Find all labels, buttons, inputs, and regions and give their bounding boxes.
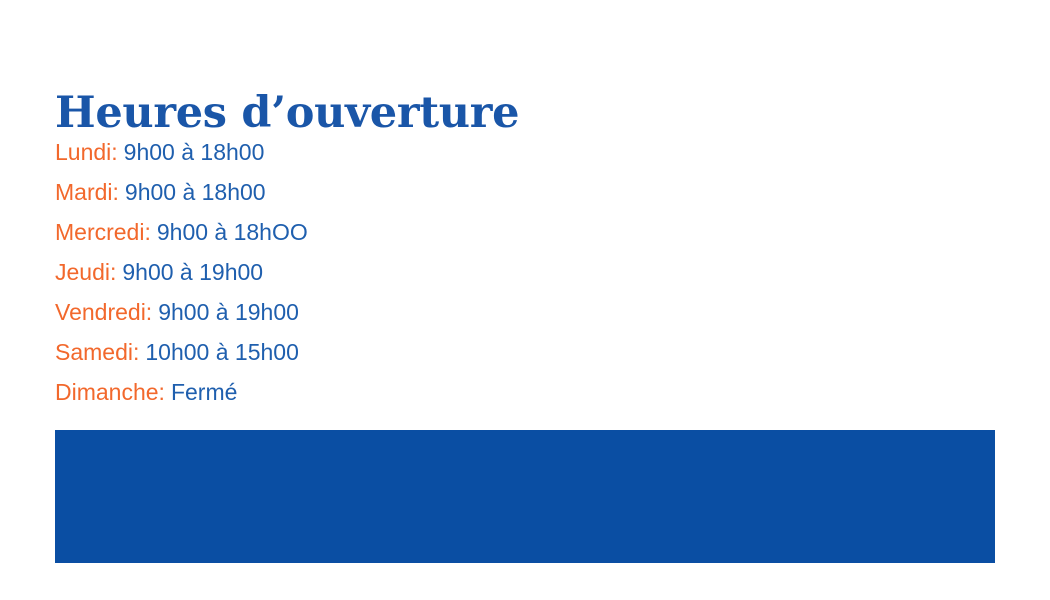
list-item: Mardi:9h00 à 18h00 (55, 172, 575, 212)
opening-hours-list: Lundi:9h00 à 18h00 Mardi:9h00 à 18h00 Me… (55, 132, 575, 412)
day-label: Jeudi: (55, 259, 116, 285)
day-label: Lundi: (55, 139, 118, 165)
day-hours: 9h00 à 18h00 (125, 179, 266, 205)
list-item: Jeudi:9h00 à 19h00 (55, 252, 575, 292)
day-hours: 9h00 à 19h00 (122, 259, 263, 285)
day-label: Mercredi: (55, 219, 151, 245)
list-item: Mercredi:9h00 à 18hOO (55, 212, 575, 252)
list-item: Samedi:10h00 à 15h00 (55, 332, 575, 372)
day-hours: 9h00 à 18hOO (157, 219, 308, 245)
slide-canvas: Heures d’ouverture Lundi:9h00 à 18h00 Ma… (0, 0, 1050, 600)
day-label: Dimanche: (55, 379, 165, 405)
day-label: Vendredi: (55, 299, 152, 325)
day-label: Samedi: (55, 339, 139, 365)
blue-banner-block (55, 430, 995, 563)
day-hours: 10h00 à 15h00 (145, 339, 299, 365)
day-hours: 9h00 à 19h00 (158, 299, 299, 325)
day-label: Mardi: (55, 179, 119, 205)
day-hours: Fermé (171, 379, 237, 405)
day-hours: 9h00 à 18h00 (124, 139, 265, 165)
page-title: Heures d’ouverture (55, 87, 519, 139)
list-item: Lundi:9h00 à 18h00 (55, 132, 575, 172)
list-item: Vendredi:9h00 à 19h00 (55, 292, 575, 332)
list-item: Dimanche:Fermé (55, 372, 575, 412)
